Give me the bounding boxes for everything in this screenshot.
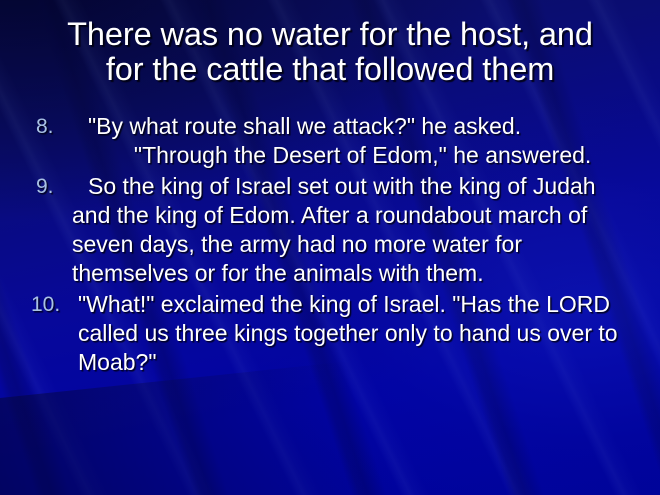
slide-title-line-1: There was no water for the host, and [14, 17, 646, 52]
slide-title-line-2: for the cattle that followed them [14, 52, 646, 87]
list-item-marker: 8. [36, 112, 54, 141]
list-item-text: "By what route shall we attack?" he aske… [70, 112, 642, 170]
list-item-text: So the king of Israel set out with the k… [72, 172, 638, 288]
slide-title: There was no water for the host, and for… [0, 17, 660, 87]
list-item: 8. "By what route shall we attack?" he a… [0, 112, 660, 170]
list-item-text: "What!" exclaimed the king of Israel. "H… [78, 290, 642, 377]
slide-content: There was no water for the host, and for… [0, 0, 660, 495]
list-item: 10. "What!" exclaimed the king of Israel… [0, 290, 660, 377]
list-item: 9. So the king of Israel set out with th… [0, 172, 660, 288]
presentation-slide: There was no water for the host, and for… [0, 0, 660, 495]
list-item-marker: 9. [36, 172, 54, 201]
list-item-marker: 10. [31, 290, 60, 319]
scripture-verse-list: 8. "By what route shall we attack?" he a… [0, 112, 660, 377]
